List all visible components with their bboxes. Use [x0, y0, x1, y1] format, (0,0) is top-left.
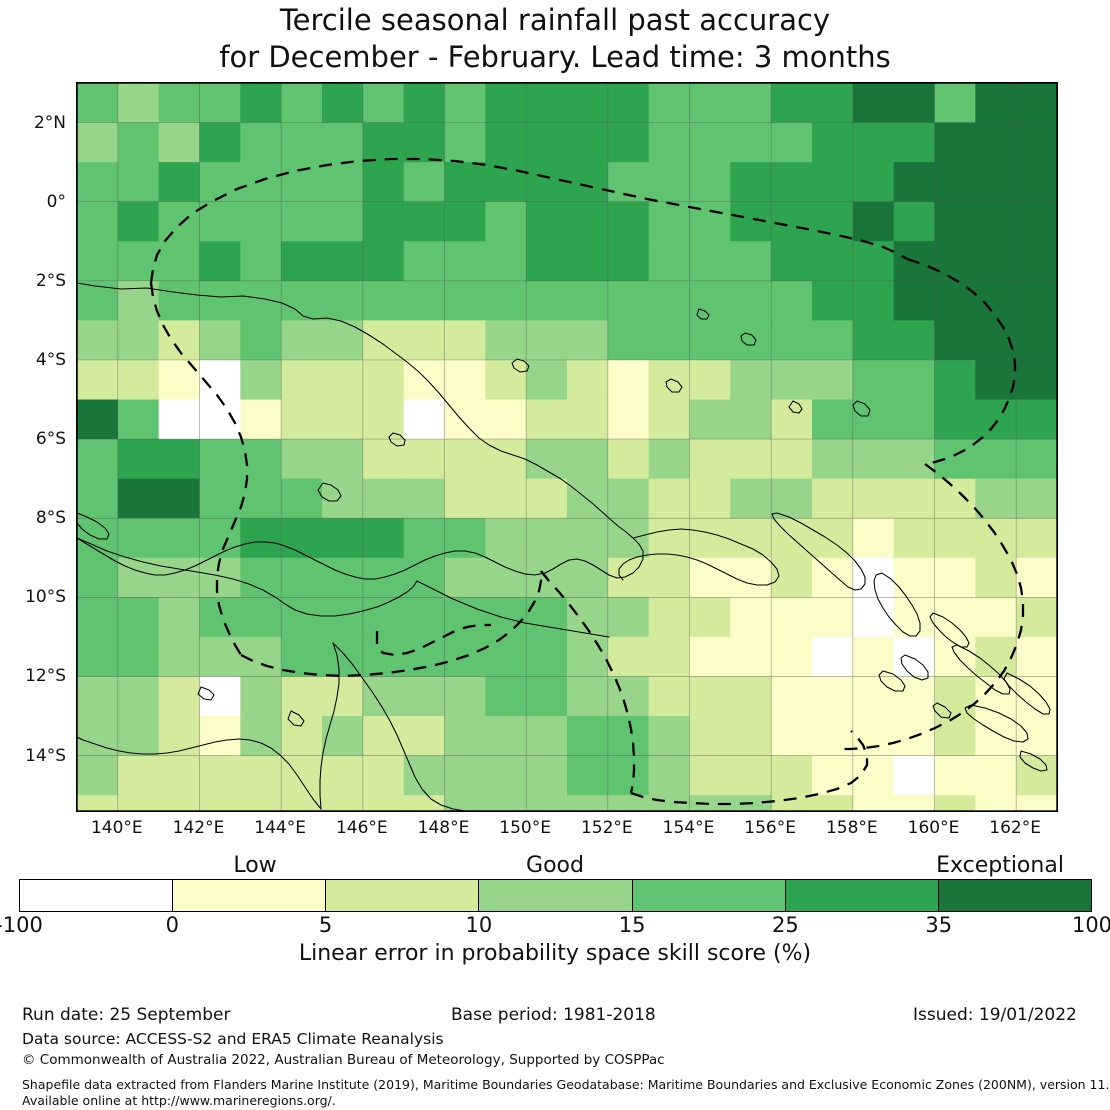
- heatmap-cell: [771, 281, 812, 321]
- heatmap-cell: [935, 518, 976, 558]
- y-axis-tick-label: 2°S: [36, 271, 66, 291]
- heatmap-cell: [1016, 716, 1057, 756]
- colorbar-tick-label: 100: [1072, 913, 1110, 937]
- heatmap-cell: [200, 756, 241, 796]
- heatmap-cell: [118, 756, 159, 796]
- heatmap-cell: [526, 202, 567, 242]
- title-line-2: for December - February. Lead time: 3 mo…: [0, 39, 1110, 76]
- heatmap-cell: [118, 162, 159, 202]
- heatmap-cell: [1016, 400, 1057, 440]
- heatmap-cell: [812, 123, 853, 163]
- heatmap-cell: [1016, 676, 1057, 716]
- heatmap-cell: [485, 360, 526, 400]
- heatmap-cell: [485, 202, 526, 242]
- heatmap-cell: [77, 795, 118, 811]
- y-axis-tick-label: 2°N: [34, 113, 66, 133]
- heatmap-cell: [730, 439, 771, 479]
- heatmap-cell: [200, 439, 241, 479]
- heatmap-cell: [730, 597, 771, 637]
- heatmap-cell: [975, 479, 1016, 519]
- heatmap-cell: [77, 360, 118, 400]
- heatmap-cell: [77, 439, 118, 479]
- colorbar-segment[interactable]: [20, 880, 173, 911]
- heatmap-cell: [118, 400, 159, 440]
- heatmap-cell: [975, 795, 1016, 811]
- heatmap-cell: [690, 162, 731, 202]
- heatmap-cell: [281, 439, 322, 479]
- heatmap-cell: [159, 83, 200, 123]
- heatmap-cell: [404, 83, 445, 123]
- heatmap-cell: [649, 479, 690, 519]
- title-line-1: Tercile seasonal rainfall past accuracy: [0, 2, 1110, 39]
- map-plot-area[interactable]: [76, 82, 1058, 812]
- heatmap-cell: [118, 360, 159, 400]
- heatmap-cell: [894, 479, 935, 519]
- heatmap-cell: [281, 400, 322, 440]
- heatmap-cell: [404, 637, 445, 677]
- heatmap-cell: [77, 400, 118, 440]
- heatmap-cell: [322, 320, 363, 360]
- heatmap-cell: [853, 518, 894, 558]
- heatmap-cell: [894, 676, 935, 716]
- heatmap-cell: [281, 241, 322, 281]
- heatmap-cell: [812, 795, 853, 811]
- heatmap-cell: [363, 479, 404, 519]
- colorbar-segment[interactable]: [786, 880, 939, 911]
- colorbar[interactable]: [19, 879, 1092, 912]
- x-axis-tick-label: 140°E: [91, 818, 143, 838]
- heatmap-cell: [445, 676, 486, 716]
- heatmap-cell: [853, 597, 894, 637]
- heatmap-cell: [485, 558, 526, 598]
- heatmap-cell: [567, 360, 608, 400]
- heatmap-cell: [894, 439, 935, 479]
- y-axis-tick-label: 4°S: [36, 350, 66, 370]
- heatmap-cell: [730, 518, 771, 558]
- colorbar-tick-label: 5: [319, 913, 332, 937]
- heatmap-cell: [526, 676, 567, 716]
- heatmap-cell: [445, 716, 486, 756]
- heatmap-cell: [404, 320, 445, 360]
- heatmap-cell: [485, 637, 526, 677]
- heatmap-cell: [240, 241, 281, 281]
- heatmap-cell: [771, 83, 812, 123]
- y-axis-tick-label: 10°S: [25, 587, 66, 607]
- heatmap-cell: [567, 241, 608, 281]
- heatmap-cell: [77, 320, 118, 360]
- heatmap-cell: [567, 162, 608, 202]
- heatmap-cell: [812, 518, 853, 558]
- heatmap-cell: [485, 756, 526, 796]
- colorbar-title: Linear error in probability space skill …: [0, 941, 1110, 966]
- heatmap-cell: [1016, 637, 1057, 677]
- heatmap-cell: [404, 479, 445, 519]
- heatmap-cell: [445, 400, 486, 440]
- heatmap-cell: [77, 597, 118, 637]
- heatmap-cell: [200, 716, 241, 756]
- heatmap-cell: [159, 756, 200, 796]
- heatmap-cell: [159, 202, 200, 242]
- heatmap-cell: [853, 83, 894, 123]
- heatmap-cell: [526, 716, 567, 756]
- heatmap-cell: [240, 360, 281, 400]
- colorbar-category-label: Exceptional: [936, 853, 1064, 878]
- heatmap-cell: [118, 795, 159, 811]
- heatmap-cell: [281, 123, 322, 163]
- heatmap-cell: [240, 400, 281, 440]
- colorbar-tick-label: 25: [772, 913, 799, 937]
- heatmap-cell: [445, 281, 486, 321]
- heatmap-cell: [77, 756, 118, 796]
- heatmap-cell: [77, 479, 118, 519]
- heatmap-cell: [363, 400, 404, 440]
- heatmap-cell: [526, 241, 567, 281]
- heatmap-cell: [853, 400, 894, 440]
- heatmap-cell: [649, 83, 690, 123]
- heatmap-cell: [935, 162, 976, 202]
- heatmap-cell: [526, 360, 567, 400]
- heatmap-cell: [404, 716, 445, 756]
- heatmap-cell: [200, 676, 241, 716]
- heatmap-cell: [935, 400, 976, 440]
- heatmap-cell: [322, 202, 363, 242]
- heatmap-cell: [975, 241, 1016, 281]
- heatmap-cell: [894, 202, 935, 242]
- heatmap-cell: [567, 202, 608, 242]
- heatmap-cell: [1016, 795, 1057, 811]
- heatmap-cell: [975, 518, 1016, 558]
- heatmap-cell: [853, 320, 894, 360]
- heatmap-cell: [445, 597, 486, 637]
- heatmap-cell: [935, 756, 976, 796]
- heatmap-cell: [322, 123, 363, 163]
- heatmap-cell: [118, 439, 159, 479]
- heatmap-cell: [1016, 479, 1057, 519]
- heatmap-cell: [281, 756, 322, 796]
- heatmap-cell: [322, 756, 363, 796]
- x-axis-tick-label: 154°E: [663, 818, 715, 838]
- heatmap-cell: [567, 439, 608, 479]
- heatmap-cell: [240, 202, 281, 242]
- heatmap-cell: [853, 756, 894, 796]
- heatmap-cell: [853, 795, 894, 811]
- heatmap-cell: [853, 479, 894, 519]
- heatmap-cell: [730, 83, 771, 123]
- heatmap-cell: [77, 241, 118, 281]
- heatmap-cell: [485, 281, 526, 321]
- heatmap-cell: [159, 162, 200, 202]
- heatmap-cell: [159, 439, 200, 479]
- heatmap-cell: [608, 597, 649, 637]
- heatmap-cell: [608, 756, 649, 796]
- heatmap-cell: [730, 479, 771, 519]
- heatmap-cell: [853, 360, 894, 400]
- heatmap-cell: [240, 281, 281, 321]
- y-axis-tick-label: 6°S: [36, 429, 66, 449]
- heatmap-cell: [935, 479, 976, 519]
- heatmap-cell: [812, 241, 853, 281]
- heatmap-cell: [363, 123, 404, 163]
- heatmap-cell: [485, 795, 526, 811]
- heatmap-cell: [690, 518, 731, 558]
- heatmap-cell: [363, 241, 404, 281]
- colorbar-segment[interactable]: [326, 880, 479, 911]
- heatmap-cell: [77, 123, 118, 163]
- heatmap-cell: [894, 162, 935, 202]
- colorbar-tick-label: 15: [619, 913, 646, 937]
- heatmap-cell: [159, 123, 200, 163]
- heatmap-cell: [690, 479, 731, 519]
- heatmap-cell: [649, 716, 690, 756]
- heatmap-cell: [649, 756, 690, 796]
- heatmap-cell: [649, 676, 690, 716]
- heatmap-cell: [281, 83, 322, 123]
- heatmap-cell: [935, 558, 976, 598]
- heatmap-cell: [567, 716, 608, 756]
- heatmap-cell: [322, 83, 363, 123]
- heatmap-cell: [159, 716, 200, 756]
- y-axis-tick-label: 12°S: [25, 666, 66, 686]
- heatmap-cell: [485, 241, 526, 281]
- heatmap-cell: [730, 320, 771, 360]
- heatmap-cell: [1016, 123, 1057, 163]
- heatmap-cell: [363, 360, 404, 400]
- heatmap-cell: [935, 241, 976, 281]
- heatmap-cell: [567, 281, 608, 321]
- heatmap-cell: [322, 716, 363, 756]
- heatmap-cell: [281, 597, 322, 637]
- heatmap-cell: [649, 597, 690, 637]
- heatmap-cell: [485, 597, 526, 637]
- heatmap-cell: [894, 320, 935, 360]
- heatmap-cell: [567, 795, 608, 811]
- heatmap-cell: [200, 558, 241, 598]
- x-axis-tick-label: 160°E: [908, 818, 960, 838]
- heatmap-cell: [200, 281, 241, 321]
- heatmap-cell: [812, 479, 853, 519]
- heatmap-cell: [404, 241, 445, 281]
- colorbar-category-label: Good: [526, 853, 584, 878]
- heatmap-cell: [322, 400, 363, 440]
- heatmap-cell: [690, 558, 731, 598]
- heatmap-cell: [567, 637, 608, 677]
- heatmap-cell: [690, 320, 731, 360]
- heatmap-cell: [118, 479, 159, 519]
- heatmap-cell: [159, 281, 200, 321]
- heatmap-cell: [975, 400, 1016, 440]
- heatmap-cell: [894, 123, 935, 163]
- heatmap-cell: [771, 597, 812, 637]
- heatmap-cell: [853, 716, 894, 756]
- heatmap-cell: [363, 281, 404, 321]
- heatmap-cell: [812, 320, 853, 360]
- heatmap-cell: [853, 558, 894, 598]
- heatmap-cell: [159, 795, 200, 811]
- heatmap-cell: [935, 676, 976, 716]
- heatmap-cell: [526, 400, 567, 440]
- colorbar-segment[interactable]: [633, 880, 786, 911]
- heatmap-cell: [363, 795, 404, 811]
- colorbar-segment[interactable]: [173, 880, 326, 911]
- footer-shapefile-line-1: Shapefile data extracted from Flanders M…: [22, 1077, 1109, 1092]
- heatmap-cell: [975, 558, 1016, 598]
- heatmap-cell: [485, 83, 526, 123]
- heatmap-cell: [690, 716, 731, 756]
- colorbar-tick-label: 10: [465, 913, 492, 937]
- colorbar-segment[interactable]: [939, 880, 1091, 911]
- heatmap-cell: [975, 83, 1016, 123]
- heatmap-cell: [771, 162, 812, 202]
- heatmap-cell: [771, 360, 812, 400]
- heatmap-cell: [690, 637, 731, 677]
- heatmap-cell: [690, 241, 731, 281]
- heatmap-cell: [608, 676, 649, 716]
- footer-copyright: © Commonwealth of Australia 2022, Austra…: [22, 1052, 665, 1068]
- x-axis-tick-label: 150°E: [499, 818, 551, 838]
- heatmap-cell: [1016, 281, 1057, 321]
- heatmap-cell: [281, 360, 322, 400]
- heatmap-cell: [771, 202, 812, 242]
- heatmap-cell: [771, 756, 812, 796]
- heatmap-cell: [690, 676, 731, 716]
- heatmap-cell: [159, 597, 200, 637]
- heatmap-cell: [159, 637, 200, 677]
- footer-data-source: Data source: ACCESS-S2 and ERA5 Climate …: [22, 1030, 444, 1048]
- heatmap-cell: [485, 123, 526, 163]
- heatmap-cell: [771, 123, 812, 163]
- heatmap-cell: [771, 439, 812, 479]
- heatmap-cell: [485, 676, 526, 716]
- heatmap-cell: [404, 439, 445, 479]
- heatmap-cell: [404, 676, 445, 716]
- heatmap-cell: [894, 558, 935, 598]
- heatmap-cell: [363, 756, 404, 796]
- heatmap-cell: [240, 597, 281, 637]
- colorbar-tick-label: 35: [925, 913, 952, 937]
- heatmap-cell: [485, 716, 526, 756]
- heatmap-cell: [894, 518, 935, 558]
- heatmap-cell: [608, 241, 649, 281]
- heatmap-cell: [200, 83, 241, 123]
- heatmap-cell: [322, 241, 363, 281]
- heatmap-cell: [690, 400, 731, 440]
- heatmap-cell: [935, 202, 976, 242]
- heatmap-cell: [771, 400, 812, 440]
- heatmap-cell: [608, 637, 649, 677]
- heatmap-cell: [240, 558, 281, 598]
- footer-issued: Issued: 19/01/2022: [913, 1005, 1077, 1025]
- heatmap-cell: [118, 202, 159, 242]
- x-axis-tick-label: 148°E: [418, 818, 470, 838]
- heatmap-cell: [77, 558, 118, 598]
- heatmap-cell: [526, 479, 567, 519]
- heatmap-cell: [853, 202, 894, 242]
- heatmap-cell: [1016, 756, 1057, 796]
- heatmap-cell: [975, 162, 1016, 202]
- heatmap-cell: [608, 320, 649, 360]
- heatmap-cell: [975, 123, 1016, 163]
- footer-run-date: Run date: 25 September: [22, 1005, 230, 1025]
- heatmap-cell: [608, 162, 649, 202]
- heatmap-cells: [77, 83, 1057, 811]
- heatmap-cell: [690, 281, 731, 321]
- heatmap-cell: [1016, 83, 1057, 123]
- heatmap-cell: [77, 676, 118, 716]
- heatmap-cell: [77, 162, 118, 202]
- heatmap-cell: [322, 518, 363, 558]
- heatmap-cell: [159, 518, 200, 558]
- heatmap-cell: [200, 400, 241, 440]
- heatmap-cell: [322, 281, 363, 321]
- heatmap-cell: [445, 558, 486, 598]
- heatmap-cell: [445, 241, 486, 281]
- heatmap-cell: [118, 716, 159, 756]
- footer-base-period: Base period: 1981-2018: [451, 1005, 656, 1025]
- heatmap-cell: [526, 83, 567, 123]
- heatmap-cell: [894, 756, 935, 796]
- heatmap-cell: [240, 162, 281, 202]
- heatmap-cell: [118, 597, 159, 637]
- heatmap-cell: [404, 795, 445, 811]
- heatmap-cell: [445, 756, 486, 796]
- heatmap-cell: [690, 123, 731, 163]
- heatmap-cell: [812, 676, 853, 716]
- heatmap-cell: [240, 320, 281, 360]
- heatmap-cell: [894, 83, 935, 123]
- heatmap-cell: [812, 281, 853, 321]
- heatmap-cell: [526, 439, 567, 479]
- heatmap-cell: [200, 202, 241, 242]
- heatmap-cell: [975, 281, 1016, 321]
- heatmap-cell: [363, 162, 404, 202]
- heatmap-cell: [77, 637, 118, 677]
- heatmap-cell: [853, 162, 894, 202]
- heatmap-cell: [567, 558, 608, 598]
- heatmap-cell: [200, 360, 241, 400]
- heatmap-cell: [649, 162, 690, 202]
- heatmap-cell: [404, 360, 445, 400]
- heatmap-cell: [159, 558, 200, 598]
- heatmap-cell: [404, 162, 445, 202]
- heatmap-cell: [118, 123, 159, 163]
- heatmap-cell: [894, 637, 935, 677]
- heatmap-cell: [526, 518, 567, 558]
- heatmap-cell: [159, 360, 200, 400]
- heatmap-cell: [935, 83, 976, 123]
- heatmap-cell: [200, 241, 241, 281]
- heatmap-cell: [567, 320, 608, 360]
- x-axis-tick-label: 146°E: [336, 818, 388, 838]
- colorbar-tick-label: -100: [0, 913, 43, 937]
- heatmap-cell: [485, 518, 526, 558]
- colorbar-segment[interactable]: [479, 880, 632, 911]
- heatmap-cell: [935, 281, 976, 321]
- heatmap-cell: [894, 281, 935, 321]
- heatmap-cell: [567, 518, 608, 558]
- heatmap-cell: [894, 360, 935, 400]
- x-axis-tick-label: 158°E: [826, 818, 878, 838]
- heatmap-cell: [200, 795, 241, 811]
- heatmap-cell: [1016, 518, 1057, 558]
- heatmap-cell: [77, 202, 118, 242]
- heatmap-cell: [771, 241, 812, 281]
- heatmap-cell: [159, 241, 200, 281]
- heatmap-cell: [159, 479, 200, 519]
- heatmap-cell: [894, 795, 935, 811]
- heatmap-cell: [445, 162, 486, 202]
- heatmap-cell: [771, 518, 812, 558]
- heatmap-cell: [159, 400, 200, 440]
